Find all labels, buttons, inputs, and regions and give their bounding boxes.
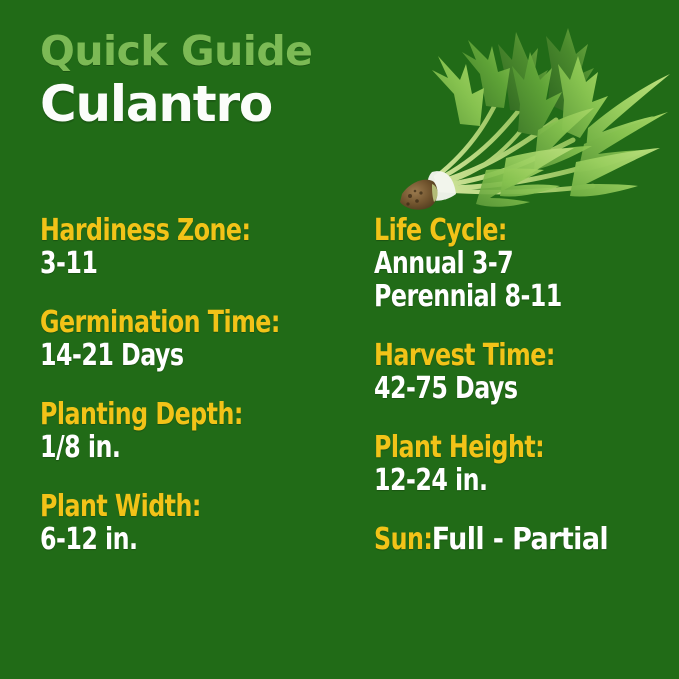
- fact-germination-time: Germination Time: 14-21 Days: [40, 306, 360, 372]
- fact-label-harvest-time: Harvest Time:: [374, 339, 638, 372]
- fact-value-harvest-time: 42-75 Days: [374, 372, 638, 405]
- fact-sun: Sun: Full - Partial: [374, 523, 674, 556]
- fact-hardiness-zone: Hardiness Zone: 3-11: [40, 214, 360, 280]
- quick-guide-card: Quick Guide Culantro: [0, 0, 679, 679]
- fact-label-plant-width: Plant Width:: [40, 490, 322, 523]
- fact-value-life-cycle-perennial: Perennial 8-11: [374, 280, 638, 313]
- fact-label-plant-height: Plant Height:: [374, 431, 638, 464]
- facts-grid: Hardiness Zone: 3-11 Germination Time: 1…: [0, 214, 679, 614]
- title-block: Quick Guide Culantro: [40, 28, 370, 132]
- fact-value-germination-time: 14-21 Days: [40, 339, 322, 372]
- fact-value-planting-depth: 1/8 in.: [40, 431, 322, 464]
- fact-label-planting-depth: Planting Depth:: [40, 398, 322, 431]
- fact-plant-height: Plant Height: 12-24 in.: [374, 431, 674, 497]
- fact-harvest-time: Harvest Time: 42-75 Days: [374, 339, 674, 405]
- fact-label-sun: Sun:: [374, 523, 432, 556]
- facts-right-column: Life Cycle: Annual 3-7 Perennial 8-11 Ha…: [374, 214, 674, 582]
- fact-value-life-cycle-annual: Annual 3-7: [374, 247, 638, 280]
- fact-label-hardiness-zone: Hardiness Zone:: [40, 214, 322, 247]
- fact-label-germination-time: Germination Time:: [40, 306, 322, 339]
- facts-left-column: Hardiness Zone: 3-11 Germination Time: 1…: [40, 214, 360, 582]
- fact-value-plant-height: 12-24 in.: [374, 464, 638, 497]
- page-title: Culantro: [40, 76, 370, 132]
- fact-planting-depth: Planting Depth: 1/8 in.: [40, 398, 360, 464]
- fact-life-cycle: Life Cycle: Annual 3-7 Perennial 8-11: [374, 214, 674, 313]
- eyebrow-heading: Quick Guide: [40, 28, 370, 74]
- culantro-bunch-illustration: [388, 8, 676, 213]
- fact-value-hardiness-zone: 3-11: [40, 247, 322, 280]
- fact-value-plant-width: 6-12 in.: [40, 523, 322, 556]
- fact-plant-width: Plant Width: 6-12 in.: [40, 490, 360, 556]
- fact-value-sun: Full - Partial: [423, 523, 608, 556]
- fact-label-life-cycle: Life Cycle:: [374, 214, 638, 247]
